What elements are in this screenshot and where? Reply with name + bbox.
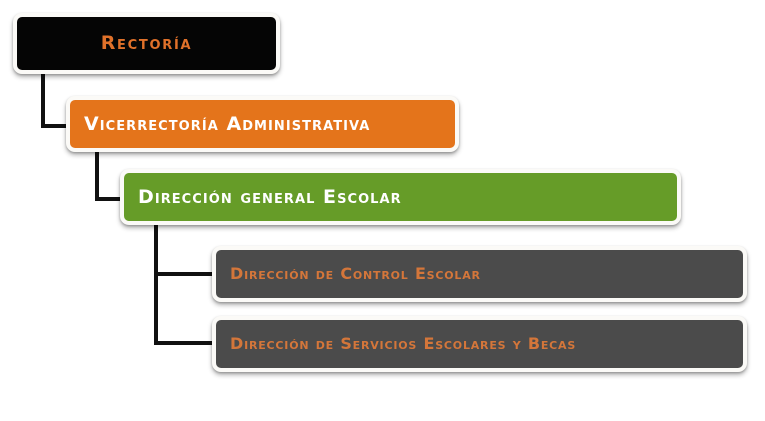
node-vicerrectoria-administrativa[interactable]: Vicerrectoría Administrativa (66, 96, 459, 152)
node-rectoria[interactable]: Rectoría (13, 13, 280, 74)
connector-control-escolar-horizontal (154, 272, 216, 276)
node-direccion-de-servicios-escolares-y-becas[interactable]: Dirección de Servicios Escolares y Becas (212, 316, 747, 372)
node-direccion-general-escolar[interactable]: Dirección general Escolar (120, 169, 681, 225)
org-chart: Rectoría Vicerrectoría Administrativa Di… (0, 0, 765, 421)
node-direccion-de-control-escolar[interactable]: Dirección de Control Escolar (212, 246, 747, 302)
connector-rectoria-vertical (41, 72, 45, 128)
node-vicerrectoria-administrativa-label: Vicerrectoría Administrativa (84, 115, 370, 134)
connector-servicios-escolares-horizontal (154, 341, 216, 345)
node-direccion-de-control-escolar-label: Dirección de Control Escolar (230, 266, 481, 282)
node-direccion-de-servicios-escolares-y-becas-label: Dirección de Servicios Escolares y Becas (230, 336, 576, 352)
node-rectoria-label: Rectoría (101, 34, 193, 53)
connector-vicerrectoria-vertical (95, 150, 99, 201)
node-direccion-general-escolar-label: Dirección general Escolar (138, 188, 402, 207)
connector-direccion-general-vertical (154, 223, 158, 345)
